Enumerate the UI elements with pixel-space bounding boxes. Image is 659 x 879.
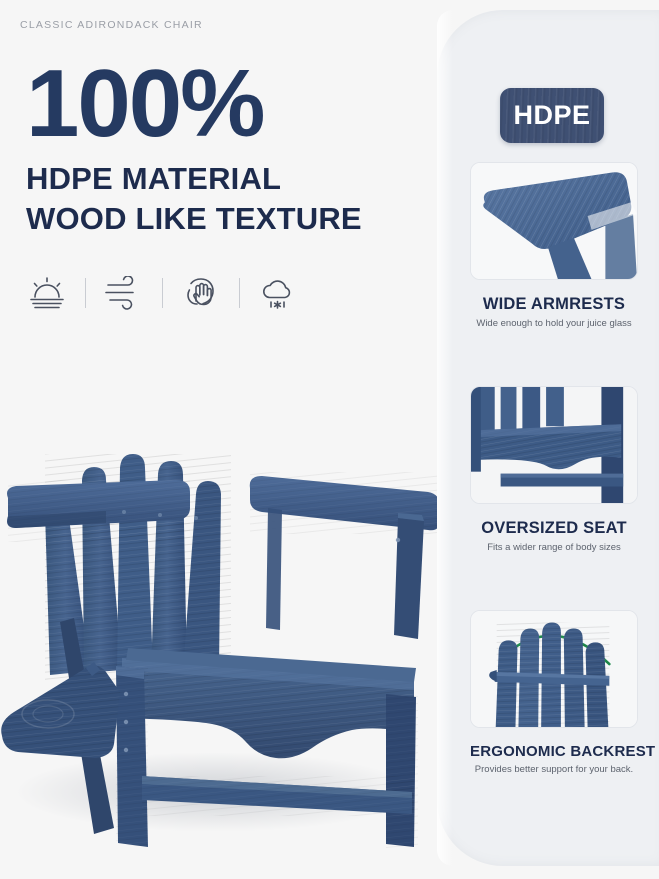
wind-resistant-icon — [95, 268, 153, 318]
feature-title: OVERSIZED SEAT — [470, 519, 638, 538]
easy-clean-hand-icon — [172, 268, 230, 318]
feature-oversized-seat[interactable]: OVERSIZED SEAT Fits a wider range of bod… — [470, 386, 638, 553]
hdpe-badge: HDPE — [500, 88, 604, 143]
hero-line-1: HDPE MATERIAL — [26, 159, 426, 199]
icon-divider — [239, 278, 240, 308]
feature-title: WIDE ARMRESTS — [470, 295, 638, 314]
product-infographic: CLASSIC ADIRONDACK CHAIR 100% HDPE MATER… — [0, 0, 659, 879]
feature-subtitle: Fits a wider range of body sizes — [470, 542, 638, 553]
feature-title: ERGONOMIC BACKREST — [470, 743, 638, 760]
sun-fade-resistant-icon — [18, 268, 76, 318]
armrest-closeup-image — [470, 162, 638, 280]
icon-divider — [85, 278, 86, 308]
feature-ergonomic-backrest[interactable]: ERGONOMIC BACKREST Provides better suppo… — [470, 610, 638, 775]
snow-weather-resistant-icon — [249, 268, 307, 318]
eyebrow-label: CLASSIC ADIRONDACK CHAIR — [20, 19, 203, 31]
feature-wide-armrests[interactable]: WIDE ARMRESTS Wide enough to hold your j… — [470, 162, 638, 329]
benefit-icon-row — [18, 268, 307, 318]
hero-big-number: 100% — [26, 58, 426, 149]
hdpe-badge-label: HDPE — [513, 100, 590, 131]
product-image-adirondack-chair — [0, 322, 440, 852]
feature-subtitle: Wide enough to hold your juice glass — [470, 318, 638, 329]
backrest-closeup-image — [470, 610, 638, 728]
seat-closeup-image — [470, 386, 638, 504]
feature-panel: HDPE — [437, 10, 659, 866]
feature-subtitle: Provides better support for your back. — [470, 764, 638, 775]
hero-headline: 100% HDPE MATERIAL WOOD LIKE TEXTURE — [26, 58, 426, 239]
hero-line-2: WOOD LIKE TEXTURE — [26, 199, 426, 239]
icon-divider — [162, 278, 163, 308]
